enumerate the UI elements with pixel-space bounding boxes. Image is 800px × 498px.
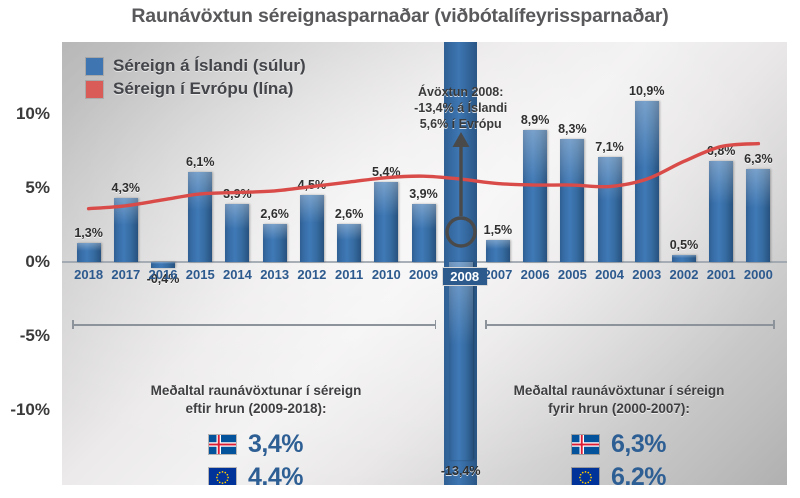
y-axis-tick-label: 10% [16, 104, 50, 124]
legend-item-europe: Séreign í Evrópu (lína) [86, 79, 306, 99]
bar-gloss [709, 161, 733, 203]
bar-gloss [635, 101, 659, 169]
summary-before-crash: Meðaltal raunávöxtunar í séreign fyrir h… [454, 382, 784, 485]
bar-2012[interactable] [300, 195, 324, 262]
y-axis: 10%5%0%-5%-10% [0, 42, 58, 485]
summary-row-iceland-left: 3,4% [76, 430, 436, 459]
bar-value-label-2009: 3,9% [398, 187, 449, 201]
bar-value-label-2004: 7,1% [584, 140, 635, 154]
bar-value-label-2014: 3,9% [212, 187, 263, 201]
bar-2006[interactable] [523, 130, 547, 262]
legend-swatch-red-icon [86, 81, 103, 98]
bar-2014[interactable] [225, 204, 249, 262]
bar-value-label-2017: 4,3% [100, 181, 151, 195]
y-axis-tick-label: 5% [25, 178, 50, 198]
bar-value-label-2000: 6,3% [733, 152, 784, 166]
summary-row-europe-left: 4,4% [76, 463, 436, 485]
bar-gloss [77, 243, 101, 251]
summary-value-europe-left: 4,4% [248, 463, 303, 485]
bar-gloss [746, 169, 770, 208]
summary-value-europe-right: 6,2% [611, 463, 666, 485]
bar-gloss [560, 139, 584, 191]
bar-value-label-2012: 4,5% [286, 178, 337, 192]
bar-value-label-2002: 0,5% [658, 238, 709, 252]
page-title: Raunávöxtun séreignasparnaðar (viðbótalí… [0, 5, 800, 28]
bar-gloss [523, 130, 547, 185]
bar-2018[interactable] [77, 243, 101, 262]
bar-value-label-2015: 6,1% [175, 155, 226, 169]
iceland-flag-icon [209, 435, 236, 454]
bar-2017[interactable] [114, 198, 138, 262]
bar-2004[interactable] [598, 157, 622, 262]
bar-2010[interactable] [374, 182, 398, 262]
legend-label-europe: Séreign í Evrópu (lína) [113, 79, 293, 99]
summary-row-iceland-right: 6,3% [454, 430, 784, 459]
chart-panel: Séreign á Íslandi (súlur) Séreign í Evró… [62, 42, 787, 485]
bar-gloss [412, 204, 436, 228]
eu-flag-icon [572, 468, 599, 485]
bar-gloss [225, 204, 249, 228]
legend: Séreign á Íslandi (súlur) Séreign í Evró… [86, 56, 306, 99]
summary-value-iceland-right: 6,3% [611, 430, 666, 459]
legend-item-iceland: Séreign á Íslandi (súlur) [86, 56, 306, 76]
bracket-before-crash [485, 320, 775, 329]
bar-value-label-2005: 8,3% [547, 122, 598, 136]
summary-rows-right: 6,3% 6,2% [454, 430, 784, 485]
bar-gloss [263, 224, 287, 240]
bar-gloss [672, 255, 696, 258]
bar-2013[interactable] [263, 224, 287, 262]
bar-gloss [374, 182, 398, 216]
bar-2003[interactable] [635, 101, 659, 262]
x-axis-label-2009: 2009 [400, 267, 447, 282]
bar-value-label-2011: 2,6% [323, 207, 374, 221]
eu-flag-icon [209, 468, 236, 485]
bar-2005[interactable] [560, 139, 584, 262]
chart-screenshot: Raunávöxtun séreignasparnaðar (viðbótalí… [0, 0, 800, 498]
summary-after-crash: Meðaltal raunávöxtunar í séreign eftir h… [76, 382, 436, 485]
legend-label-iceland: Séreign á Íslandi (súlur) [113, 56, 306, 76]
bar-2002[interactable] [672, 255, 696, 262]
y-axis-tick-label: 0% [25, 252, 50, 272]
bracket-after-crash [72, 320, 436, 329]
summary-row-europe-right: 6,2% [454, 463, 784, 485]
bar-gloss [188, 172, 212, 210]
bar-2009[interactable] [412, 204, 436, 262]
callout-2008: Ávöxtun 2008: -13,4% á Íslandi 5,6% í Ev… [376, 84, 546, 132]
bar-gloss [151, 262, 175, 264]
bar-value-label-2010: 5,4% [361, 165, 412, 179]
bar-2015[interactable] [188, 172, 212, 262]
y-axis-tick-label: -10% [10, 400, 50, 420]
bar-gloss [337, 224, 361, 240]
bar-value-label-2007: 1,5% [472, 223, 523, 237]
summary-heading-right: Meðaltal raunávöxtunar í séreign fyrir h… [454, 382, 784, 418]
bar-2011[interactable] [337, 224, 361, 262]
summary-heading-left: Meðaltal raunávöxtunar í séreign eftir h… [76, 382, 436, 418]
bar-2001[interactable] [709, 161, 733, 262]
bar-value-label-2018: 1,3% [63, 226, 114, 240]
summary-value-iceland-left: 3,4% [248, 430, 303, 459]
iceland-flag-icon [572, 435, 599, 454]
y-axis-tick-label: -5% [20, 326, 50, 346]
bar-gloss [114, 198, 138, 225]
bar-value-label-2013: 2,6% [249, 207, 300, 221]
bar-gloss [300, 195, 324, 223]
bar-gloss [486, 240, 510, 249]
bar-value-label-2003: 10,9% [621, 84, 672, 98]
legend-swatch-blue-icon [86, 58, 103, 75]
bar-2007[interactable] [486, 240, 510, 262]
summary-rows-left: 3,4% 4,4% [76, 430, 436, 485]
bar-gloss [598, 157, 622, 201]
bar-2000[interactable] [746, 169, 770, 262]
x-axis-label-2000: 2000 [735, 267, 782, 282]
